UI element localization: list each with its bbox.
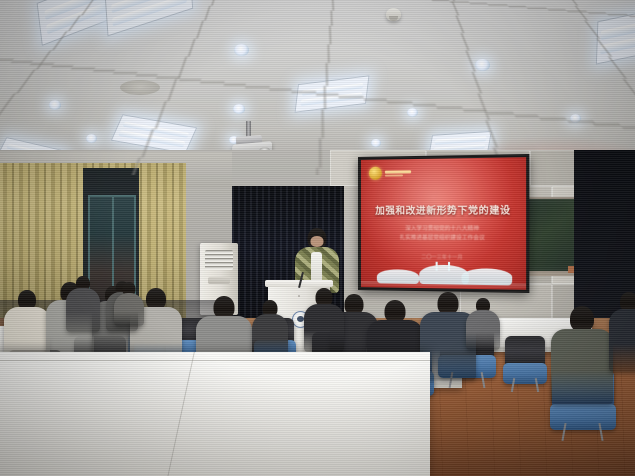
ceiling-speaker	[120, 80, 160, 95]
smoke-detector	[386, 8, 401, 21]
logo-emblem-icon	[369, 167, 382, 180]
person-torso	[466, 310, 500, 350]
presenter-face	[311, 236, 324, 247]
recessed-downlight	[407, 108, 418, 117]
audience-member-13	[609, 292, 635, 372]
university-logo	[369, 166, 411, 180]
lecture-room-photo: 加强和改进新形势下党的建设 深入学习贯彻党的十八大精神 扎实推进基层党组织建设工…	[0, 0, 635, 476]
person-torso	[304, 304, 344, 352]
foreground-conference-table[interactable]	[0, 352, 430, 476]
person-torso	[114, 293, 144, 326]
logo-wordmark	[385, 170, 411, 176]
audience-member-12	[551, 306, 613, 404]
artwork-reflection	[361, 281, 526, 290]
spire-shape	[435, 262, 437, 271]
podium-screw	[298, 295, 300, 297]
conference-chair[interactable]	[505, 336, 545, 384]
audience-member-14	[114, 282, 144, 326]
person-torso	[609, 309, 635, 372]
table-seam	[0, 360, 430, 361]
table-seam	[166, 352, 195, 476]
chair-seat	[550, 404, 617, 430]
slide-subtitle-2: 扎实推进基层党组织建设工作会议	[361, 234, 526, 243]
ac-vent-grille	[205, 250, 233, 270]
audience-member-16	[466, 298, 500, 350]
presenter-head	[308, 228, 327, 249]
chair-back	[505, 336, 545, 366]
chair-seat	[503, 363, 546, 384]
slide-title: 加强和改进新形势下党的建设	[361, 202, 526, 217]
green-chalkboard	[521, 197, 579, 273]
spire-shape	[448, 262, 450, 271]
audience-member-15	[252, 300, 288, 358]
recessed-downlight	[49, 100, 61, 110]
audience-member-11	[304, 288, 344, 352]
slide-subtitle-1: 深入学习贯彻党的十八大精神	[361, 225, 526, 233]
presentation-slide: 加强和改进新形势下党的建设 深入学习贯彻党的十八大精神 扎实推进基层党组织建设工…	[361, 157, 526, 290]
audience-member-4	[66, 276, 100, 332]
recessed-downlight	[86, 134, 97, 143]
person-torso	[66, 288, 100, 332]
ac-control-panel	[208, 277, 230, 284]
projection-screen: 加强和改进新形势下党的建设 深入学习贯彻党的十八大精神 扎实推进基层党组织建设工…	[358, 154, 529, 293]
recessed-downlight	[233, 104, 245, 114]
recessed-downlight	[570, 114, 581, 123]
slide-artwork	[361, 253, 526, 290]
person-torso	[551, 329, 613, 404]
